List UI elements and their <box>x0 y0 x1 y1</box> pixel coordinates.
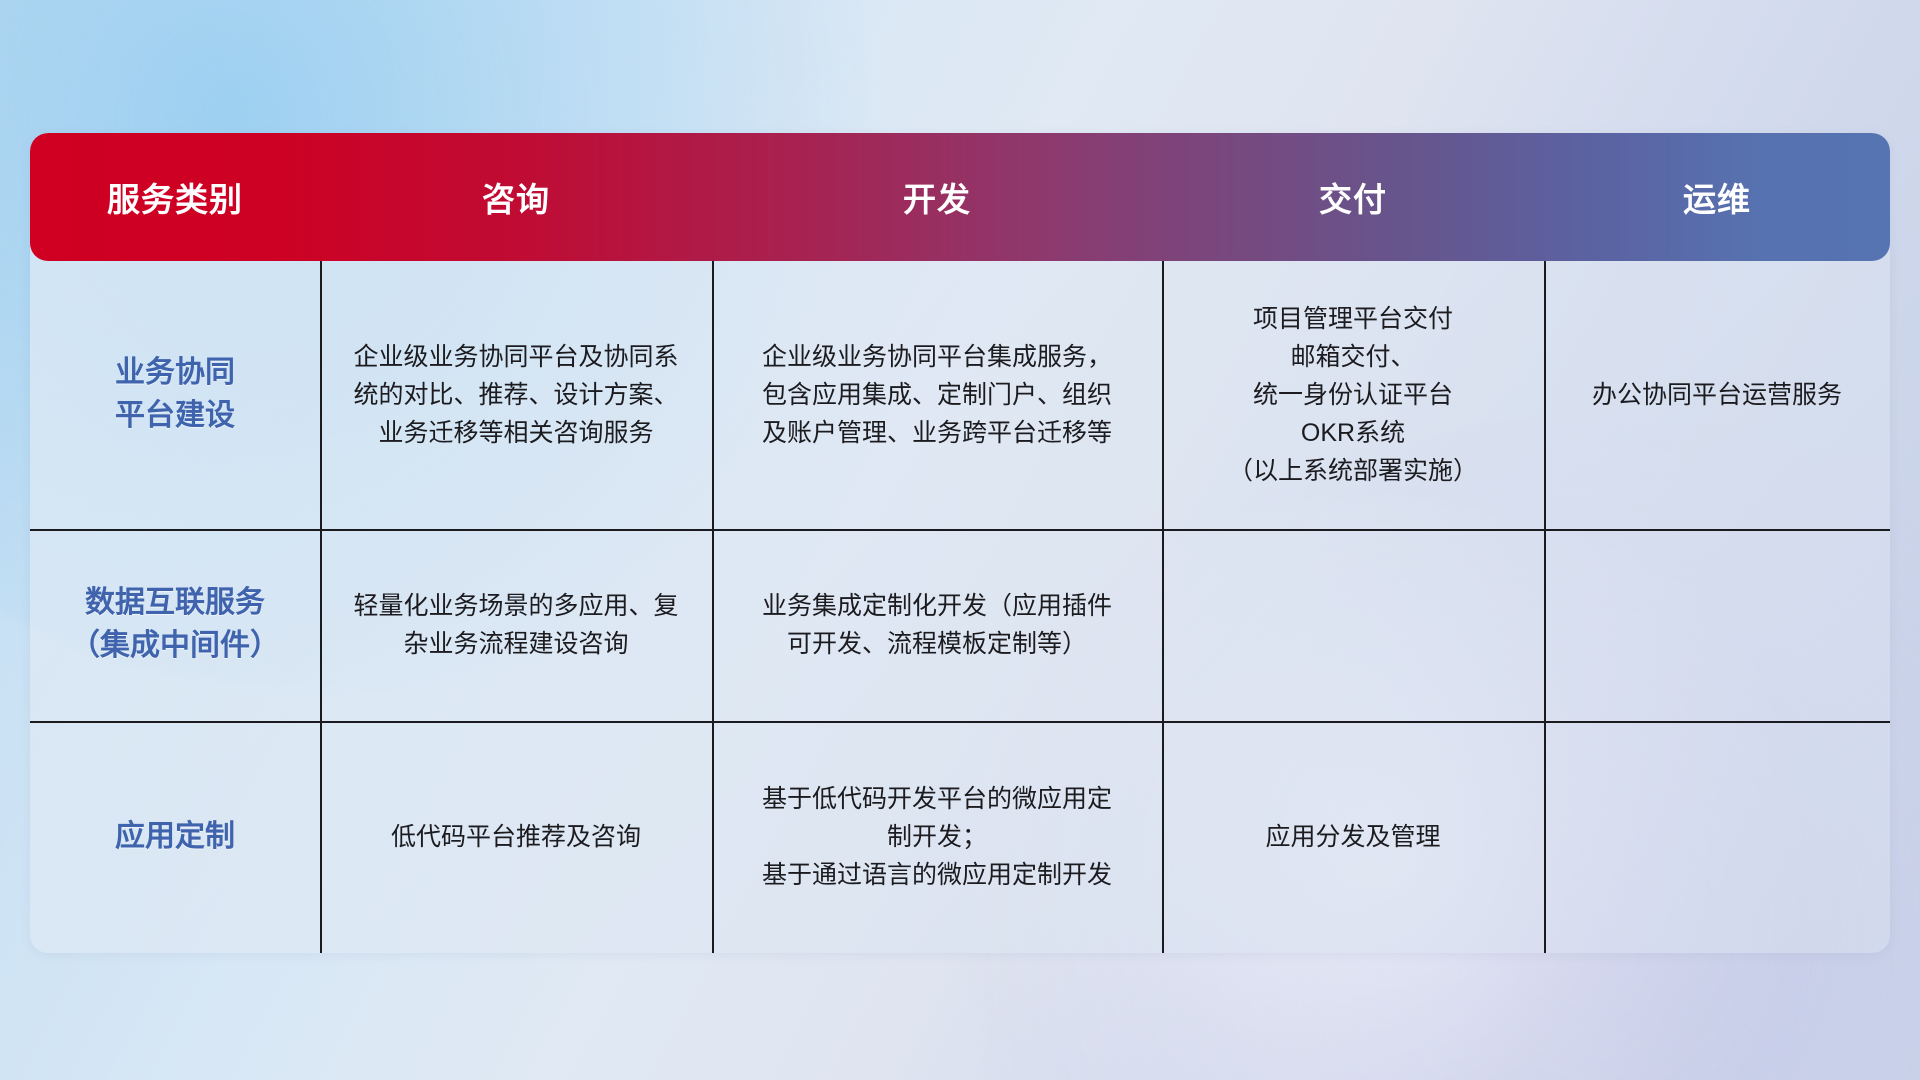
row-label-text: 应用定制 <box>115 816 235 859</box>
cell-operations <box>1544 721 1890 953</box>
table-row: 数据互联服务 （集成中间件） 轻量化业务场景的多应用、复 杂业务流程建设咨询 业… <box>30 529 1890 721</box>
column-header-operations: 运维 <box>1544 173 1890 221</box>
row-label-cell: 业务协同 平台建设 <box>30 261 320 529</box>
cell-text: 业务集成定制化开发（应用插件 可开发、流程模板定制等） <box>762 587 1112 663</box>
row-label-text: 数据互联服务 （集成中间件） <box>70 582 280 667</box>
cell-delivery: 应用分发及管理 <box>1162 721 1544 953</box>
row-label-text: 业务协同 平台建设 <box>115 352 235 437</box>
cell-text: 低代码平台推荐及咨询 <box>391 818 641 856</box>
column-header-development: 开发 <box>712 173 1162 221</box>
row-label-cell: 应用定制 <box>30 721 320 953</box>
cell-development: 基于低代码开发平台的微应用定 制开发； 基于通过语言的微应用定制开发 <box>712 721 1162 953</box>
cell-operations: 办公协同平台运营服务 <box>1544 261 1890 529</box>
cell-delivery <box>1162 529 1544 721</box>
cell-development: 企业级业务协同平台集成服务， 包含应用集成、定制门户、组织 及账户管理、业务跨平… <box>712 261 1162 529</box>
cell-text: 项目管理平台交付 邮箱交付、 统一身份认证平台 OKR系统 （以上系统部署实施） <box>1228 300 1478 490</box>
cell-consulting: 企业级业务协同平台及协同系 统的对比、推荐、设计方案、 业务迁移等相关咨询服务 <box>320 261 712 529</box>
table-body: 业务协同 平台建设 企业级业务协同平台及协同系 统的对比、推荐、设计方案、 业务… <box>30 261 1890 953</box>
cell-text: 企业级业务协同平台集成服务， 包含应用集成、定制门户、组织 及账户管理、业务跨平… <box>762 338 1112 452</box>
column-header-delivery: 交付 <box>1162 173 1544 221</box>
cell-text: 办公协同平台运营服务 <box>1592 376 1842 414</box>
cell-operations <box>1544 529 1890 721</box>
column-header-category: 服务类别 <box>30 173 320 221</box>
table-row: 业务协同 平台建设 企业级业务协同平台及协同系 统的对比、推荐、设计方案、 业务… <box>30 261 1890 529</box>
cell-text: 企业级业务协同平台及协同系 统的对比、推荐、设计方案、 业务迁移等相关咨询服务 <box>353 338 678 452</box>
cell-consulting: 低代码平台推荐及咨询 <box>320 721 712 953</box>
cell-text: 基于低代码开发平台的微应用定 制开发； 基于通过语言的微应用定制开发 <box>762 780 1112 894</box>
table-row: 应用定制 低代码平台推荐及咨询 基于低代码开发平台的微应用定 制开发； 基于通过… <box>30 721 1890 953</box>
table-header-row: 服务类别 咨询 开发 交付 运维 <box>30 133 1890 261</box>
column-header-consulting: 咨询 <box>320 173 712 221</box>
service-matrix-card: 服务类别 咨询 开发 交付 运维 业务协同 平台建设 企业级业务协同平台及协同系… <box>30 133 1890 953</box>
cell-text: 应用分发及管理 <box>1265 818 1440 856</box>
row-label-cell: 数据互联服务 （集成中间件） <box>30 529 320 721</box>
cell-delivery: 项目管理平台交付 邮箱交付、 统一身份认证平台 OKR系统 （以上系统部署实施） <box>1162 261 1544 529</box>
cell-consulting: 轻量化业务场景的多应用、复 杂业务流程建设咨询 <box>320 529 712 721</box>
cell-text: 轻量化业务场景的多应用、复 杂业务流程建设咨询 <box>353 587 678 663</box>
cell-development: 业务集成定制化开发（应用插件 可开发、流程模板定制等） <box>712 529 1162 721</box>
